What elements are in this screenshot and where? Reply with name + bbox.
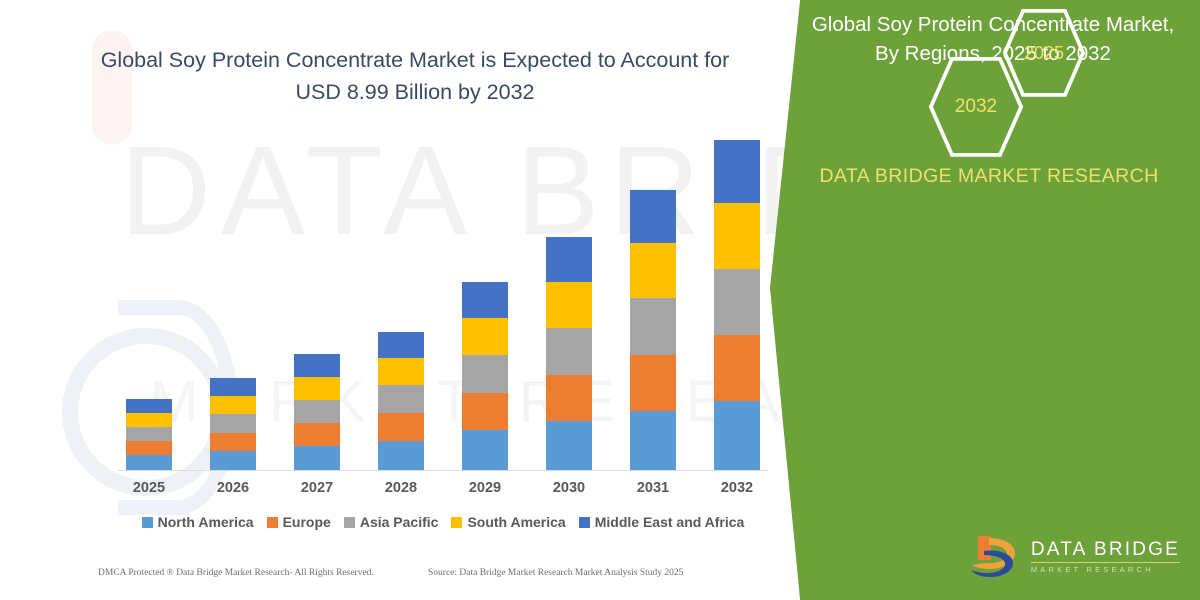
- x-axis-tick-label: 2028: [378, 480, 424, 496]
- x-axis-labels: 20252026202720282029203020312032: [118, 480, 768, 496]
- bar-segment: [462, 393, 508, 430]
- bar-segment: [378, 441, 424, 470]
- hexagon-end-year-label: 2032: [955, 96, 997, 118]
- bar-segment: [294, 446, 340, 470]
- hexagon-start-year-label: 2025: [1024, 43, 1064, 64]
- bar-segment: [630, 190, 676, 243]
- bar-segment: [714, 203, 760, 268]
- bar-segment: [462, 318, 508, 355]
- bar-segment: [126, 427, 172, 441]
- bar-segment: [714, 335, 760, 401]
- legend-swatch-icon: [267, 517, 278, 528]
- bar-segment: [378, 358, 424, 385]
- bar-segment: [546, 282, 592, 328]
- bar-column: [378, 332, 424, 470]
- data-bridge-logo-icon: [970, 532, 1022, 582]
- bar-segment: [126, 441, 172, 455]
- legend-swatch-icon: [344, 517, 355, 528]
- bar-segment: [126, 413, 172, 427]
- brand-panel: Global Soy Protein Concentrate Market, B…: [770, 0, 1200, 600]
- bar-column: [546, 237, 592, 470]
- bar-segment: [630, 243, 676, 299]
- bar-segment: [546, 237, 592, 282]
- x-axis-tick-label: 2031: [630, 480, 676, 496]
- legend-swatch-icon: [451, 517, 462, 528]
- chart-legend: North AmericaEuropeAsia PacificSouth Ame…: [118, 514, 768, 530]
- legend-swatch-icon: [579, 517, 590, 528]
- bar-segment: [714, 269, 760, 336]
- bar-segment: [294, 423, 340, 446]
- logo-wordmark: DATA BRIDGE MARKET RESEARCH: [1031, 540, 1180, 574]
- bar-segment: [630, 298, 676, 354]
- source-note: Source: Data Bridge Market Research Mark…: [428, 568, 683, 578]
- x-axis-tick-label: 2032: [714, 480, 760, 496]
- legend-item[interactable]: Asia Pacific: [344, 514, 439, 530]
- bar-segment: [714, 140, 760, 203]
- x-axis-line: [118, 470, 768, 471]
- bar-segment: [210, 451, 256, 470]
- chart-region: Global Soy Protein Concentrate Market is…: [0, 0, 800, 600]
- bar-segment: [378, 385, 424, 413]
- legend-item[interactable]: North America: [142, 514, 254, 530]
- x-axis-tick-label: 2027: [294, 480, 340, 496]
- logo-divider: [1031, 562, 1180, 563]
- bar-segment: [210, 433, 256, 451]
- legend-swatch-icon: [142, 517, 153, 528]
- legend-item[interactable]: South America: [451, 514, 565, 530]
- bar-segment: [378, 413, 424, 441]
- x-axis-tick-label: 2029: [462, 480, 508, 496]
- bar-column: [210, 378, 256, 470]
- brand-name: DATA BRIDGE MARKET RESEARCH: [800, 162, 1178, 190]
- chart-title: Global Soy Protein Concentrate Market is…: [95, 44, 735, 108]
- bar-column: [294, 354, 340, 470]
- legend-label: North America: [158, 514, 254, 530]
- stacked-bars: [118, 140, 768, 470]
- plot-area: [118, 140, 768, 470]
- hexagon-badge-start-year: 2025: [1002, 8, 1086, 98]
- bar-segment: [630, 355, 676, 411]
- bar-segment: [630, 411, 676, 470]
- bar-segment: [210, 378, 256, 396]
- bar-segment: [546, 421, 592, 470]
- bar-column: [462, 282, 508, 470]
- logo-title: DATA BRIDGE: [1031, 540, 1180, 559]
- bar-column: [630, 190, 676, 470]
- legend-label: Europe: [283, 514, 331, 530]
- bar-segment: [210, 414, 256, 432]
- x-axis-tick-label: 2030: [546, 480, 592, 496]
- company-logo: DATA BRIDGE MARKET RESEARCH: [970, 532, 1180, 582]
- bar-segment: [126, 399, 172, 413]
- bar-column: [126, 399, 172, 470]
- bar-segment: [294, 377, 340, 400]
- bar-segment: [294, 400, 340, 423]
- legend-item[interactable]: Europe: [267, 514, 331, 530]
- bar-segment: [462, 355, 508, 393]
- dmca-notice: DMCA Protected ® Data Bridge Market Rese…: [98, 568, 374, 578]
- bar-segment: [126, 455, 172, 470]
- bar-segment: [378, 332, 424, 358]
- bar-segment: [294, 354, 340, 377]
- bar-segment: [462, 282, 508, 318]
- bar-segment: [546, 375, 592, 422]
- bar-segment: [462, 430, 508, 470]
- bar-segment: [714, 401, 760, 470]
- legend-label: Middle East and Africa: [595, 514, 745, 530]
- legend-label: Asia Pacific: [360, 514, 439, 530]
- bar-segment: [546, 328, 592, 375]
- x-axis-tick-label: 2026: [210, 480, 256, 496]
- logo-subtitle: MARKET RESEARCH: [1031, 566, 1180, 574]
- legend-item[interactable]: Middle East and Africa: [579, 514, 745, 530]
- bar-segment: [210, 396, 256, 414]
- legend-label: South America: [467, 514, 565, 530]
- bar-column: [714, 140, 760, 470]
- x-axis-tick-label: 2025: [126, 480, 172, 496]
